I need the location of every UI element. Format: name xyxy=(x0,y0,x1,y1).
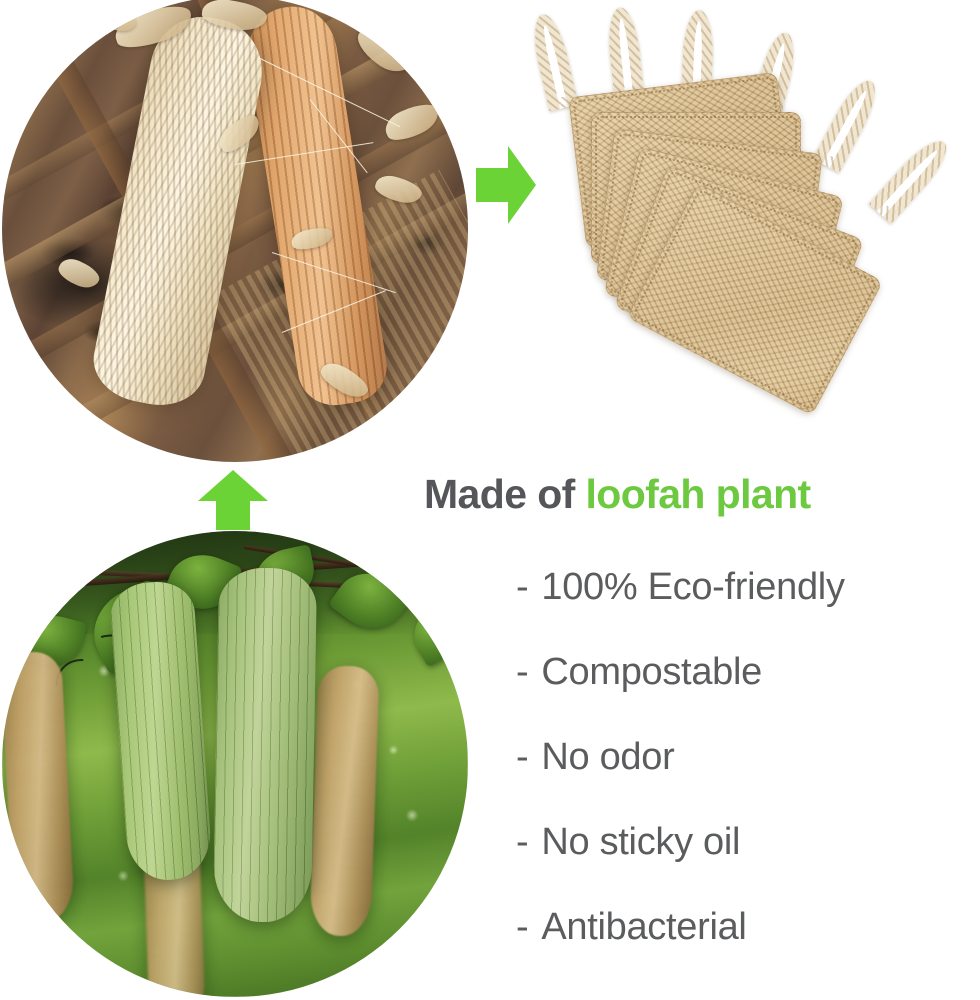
infographic-canvas: Made of loofah plant -100% Eco-friendly … xyxy=(0,0,980,1000)
bullet-dash: - xyxy=(516,821,528,863)
headline-highlight: loofah plant xyxy=(585,471,810,517)
loofah-pads-product-photo xyxy=(535,0,980,456)
headline-prefix: Made of xyxy=(424,471,585,517)
bullet-dash: - xyxy=(516,906,528,948)
rope-loop xyxy=(528,11,579,111)
loofah-vine-photo xyxy=(2,531,468,997)
list-item: -No odor xyxy=(516,738,980,776)
list-item: -Compostable xyxy=(516,653,980,691)
dry-gourd xyxy=(310,665,380,937)
page-title: Made of loofah plant xyxy=(424,473,811,516)
bullet-dash: - xyxy=(516,651,528,693)
rope-loop xyxy=(813,74,885,173)
bullet-text: Antibacterial xyxy=(541,906,746,948)
feature-list: -100% Eco-friendly -Compostable -No odor… xyxy=(516,568,980,993)
bullet-text: Compostable xyxy=(541,651,762,693)
bullet-dash: - xyxy=(516,566,528,608)
bullet-dash: - xyxy=(516,736,528,778)
bullet-text: No odor xyxy=(541,736,674,778)
arrow-right-icon xyxy=(476,146,536,224)
list-item: -Antibacterial xyxy=(516,908,980,946)
list-item: -100% Eco-friendly xyxy=(516,568,980,606)
arrow-up-icon xyxy=(198,470,268,530)
dried-loofah-photo xyxy=(2,0,468,462)
rope-loop xyxy=(869,133,956,224)
bullet-text: 100% Eco-friendly xyxy=(541,566,844,608)
green-loofah-gourd xyxy=(213,567,317,923)
list-item: -No sticky oil xyxy=(516,823,980,861)
bullet-text: No sticky oil xyxy=(541,821,740,863)
